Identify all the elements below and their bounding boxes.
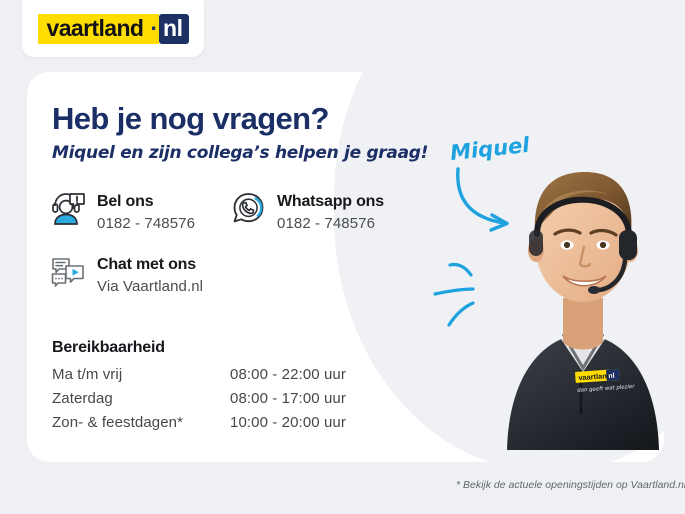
- headset-person-icon: [50, 190, 86, 228]
- chat-bubbles-icon: [50, 253, 86, 291]
- page-title: Heb je nog vragen?: [52, 101, 329, 137]
- hours-time: 10:00 - 20:00 uur: [230, 414, 346, 438]
- hours-time: 08:00 - 22:00 uur: [230, 366, 346, 390]
- page-subtitle: Miquel en zijn collega’s helpen je graag…: [52, 143, 428, 163]
- hours-heading: Bereikbaarheid: [52, 339, 165, 357]
- curved-arrow-icon: [452, 165, 542, 237]
- logo-tld: nl: [159, 14, 188, 44]
- whatsapp-icon: [230, 190, 266, 228]
- contact-item-whatsapp[interactable]: Whatsapp ons 0182 - 748576: [230, 190, 384, 232]
- contact-item-chat[interactable]: Chat met ons Via Vaartland.nl: [50, 253, 203, 295]
- hours-day: Zaterdag: [52, 390, 230, 414]
- contact-chat-link[interactable]: Via Vaartland.nl: [97, 278, 203, 295]
- brand-logo[interactable]: vaartland · nl: [22, 0, 204, 57]
- contact-whatsapp-number[interactable]: 0182 - 748576: [277, 215, 384, 232]
- table-row: Zaterdag 08:00 - 17:00 uur: [52, 390, 346, 414]
- contact-call-number[interactable]: 0182 - 748576: [97, 215, 195, 232]
- table-row: Ma t/m vrij 08:00 - 22:00 uur: [52, 366, 346, 390]
- contact-call-text: Bel ons 0182 - 748576: [97, 190, 195, 232]
- contact-whatsapp-title: Whatsapp ons: [277, 192, 384, 212]
- footnote-text: * Bekijk de actuele openingstijden op Va…: [456, 479, 685, 491]
- hours-table: Ma t/m vrij 08:00 - 22:00 uur Zaterdag 0…: [52, 366, 346, 438]
- contact-whatsapp-text: Whatsapp ons 0182 - 748576: [277, 190, 384, 232]
- contact-call-title: Bel ons: [97, 192, 195, 212]
- hours-day: Zon- & feestdagen*: [52, 414, 230, 438]
- logo-wordmark: vaartland: [38, 14, 151, 44]
- hours-time: 08:00 - 17:00 uur: [230, 390, 346, 414]
- decorative-spark-lines-icon: [432, 245, 502, 335]
- contact-item-call[interactable]: Bel ons 0182 - 748576: [50, 190, 195, 232]
- contact-chat-text: Chat met ons Via Vaartland.nl: [97, 253, 203, 295]
- svg-text:nl: nl: [608, 373, 615, 380]
- logo-separator-dot: ·: [150, 14, 159, 44]
- hours-day: Ma t/m vrij: [52, 366, 230, 390]
- table-row: Zon- & feestdagen* 10:00 - 20:00 uur: [52, 414, 346, 438]
- contact-chat-title: Chat met ons: [97, 255, 203, 275]
- promo-banner: vaartland · nl: [0, 0, 685, 514]
- vaartland-logo-lockup: vaartland · nl: [38, 14, 189, 44]
